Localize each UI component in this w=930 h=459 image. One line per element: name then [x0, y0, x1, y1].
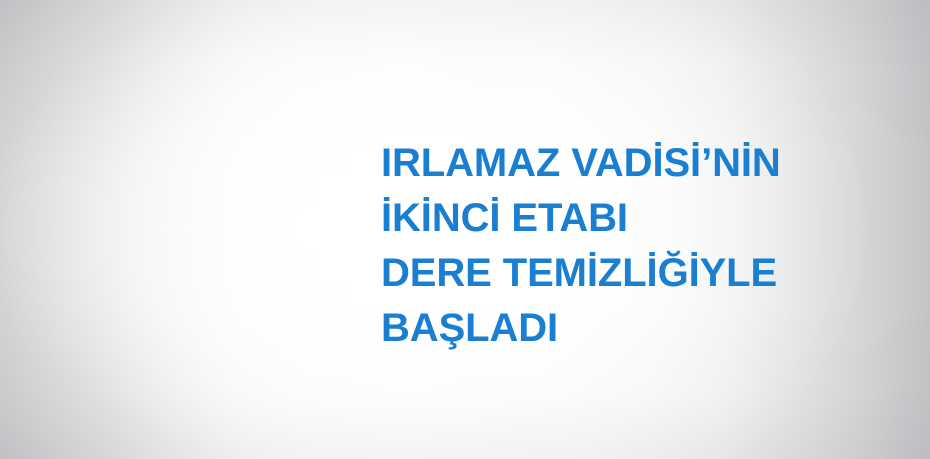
- headline-line-2: İKİNCİ ETABI: [381, 191, 851, 246]
- headline: IRLAMAZ VADİSİ’NİN İKİNCİ ETABI DERE TEM…: [381, 136, 851, 356]
- headline-line-1: IRLAMAZ VADİSİ’NİN: [381, 136, 851, 191]
- headline-line-3: DERE TEMİZLİĞİYLE: [381, 246, 851, 301]
- news-thumbnail-card[interactable]: IRLAMAZ VADİSİ’NİN İKİNCİ ETABI DERE TEM…: [0, 0, 930, 459]
- headline-line-4: BAŞLADI: [381, 301, 851, 356]
